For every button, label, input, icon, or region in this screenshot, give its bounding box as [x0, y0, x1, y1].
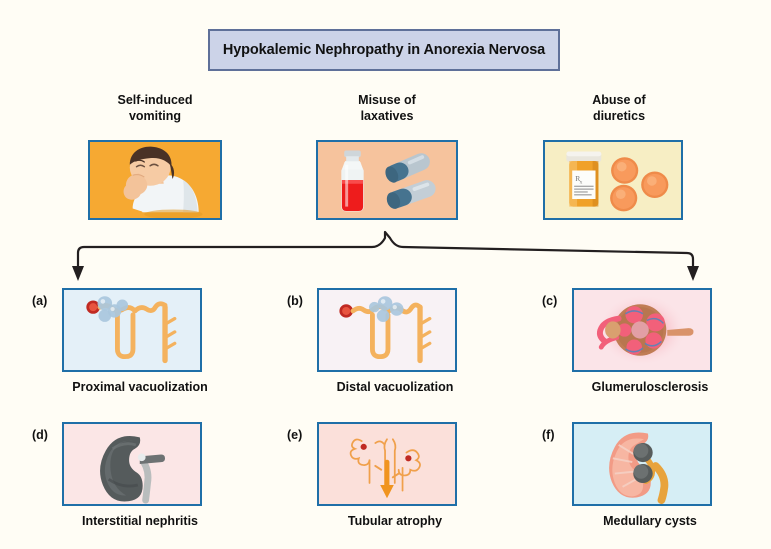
panel-letter-e: (e) — [287, 428, 302, 442]
person-vomiting-icon — [90, 142, 220, 218]
panel-label-c: Glumerulosclerosis — [540, 380, 760, 394]
panel-letter-f: (f) — [542, 428, 555, 442]
panel-letter-d: (d) — [32, 428, 48, 442]
svg-text:x: x — [579, 179, 582, 185]
cause-label-line1: Self-induced — [60, 92, 250, 108]
panel-letter-a: (a) — [32, 294, 47, 308]
arrowhead-right — [687, 266, 699, 281]
panel-label-f: Medullary cysts — [540, 514, 760, 528]
panel-letter-c: (c) — [542, 294, 557, 308]
arrowhead-left — [72, 266, 84, 281]
panel-image-frame-e — [317, 422, 457, 506]
pill-bottle-and-tablets-icon: R x — [545, 142, 681, 218]
panel-image-frame-a — [62, 288, 202, 372]
outcome-tubular-atrophy: (e) — [285, 422, 505, 537]
diagram-canvas: Hypokalemic Nephropathy in Anorexia Nerv… — [0, 0, 771, 549]
gray-kidney-icon — [64, 424, 200, 504]
panel-label-d: Interstitial nephritis — [30, 514, 250, 528]
cause-label-abuse-of-diuretics: Abuse of diuretics — [524, 92, 714, 124]
cause-label-line2: laxatives — [292, 108, 482, 124]
nephron-proximal-vacuoles-icon — [64, 290, 200, 370]
outcome-medullary-cysts: (f) — [540, 422, 760, 537]
outcome-glumerulosclerosis: (c) — [540, 288, 760, 403]
panel-image-frame-c — [572, 288, 712, 372]
panel-image-frame-b — [317, 288, 457, 372]
cause-image-frame-abuse-of-diuretics: R x — [543, 140, 683, 220]
panel-label-a: Proximal vacuolization — [30, 380, 250, 394]
cause-image-frame-self-induced-vomiting — [88, 140, 222, 220]
atrophic-nephron-icon — [319, 424, 455, 504]
panel-label-e: Tubular atrophy — [285, 514, 505, 528]
panel-label-b: Distal vacuolization — [285, 380, 505, 394]
outcome-interstitial-nephritis: (d) Interstitial nephritis — [30, 422, 250, 537]
cause-label-line2: diuretics — [524, 108, 714, 124]
glomerulus-icon — [574, 290, 710, 370]
kidney-cysts-icon — [574, 424, 710, 504]
diagram-title-box: Hypokalemic Nephropathy in Anorexia Nerv… — [208, 29, 560, 71]
cause-label-line2: vomiting — [60, 108, 250, 124]
panel-image-frame-d — [62, 422, 202, 506]
cause-label-line1: Abuse of — [524, 92, 714, 108]
panel-image-frame-f — [572, 422, 712, 506]
cause-image-frame-misuse-of-laxatives — [316, 140, 458, 220]
outcome-distal-vacuolization: (b) Distal vacuolization — [285, 288, 505, 403]
cause-label-line1: Misuse of — [292, 92, 482, 108]
page-title: Hypokalemic Nephropathy in Anorexia Nerv… — [223, 42, 545, 58]
bottle-and-capsules-icon — [318, 142, 456, 218]
outcome-proximal-vacuolization: (a) — [30, 288, 250, 403]
cause-misuse-of-laxatives: Misuse of laxatives — [292, 92, 482, 227]
cause-label-misuse-of-laxatives: Misuse of laxatives — [292, 92, 482, 124]
cause-self-induced-vomiting: Self-induced vomiting — [60, 92, 250, 227]
cause-label-self-induced-vomiting: Self-induced vomiting — [60, 92, 250, 124]
nephron-distal-vacuoles-icon — [319, 290, 455, 370]
cause-abuse-of-diuretics: Abuse of diuretics R x — [524, 92, 714, 227]
panel-letter-b: (b) — [287, 294, 303, 308]
